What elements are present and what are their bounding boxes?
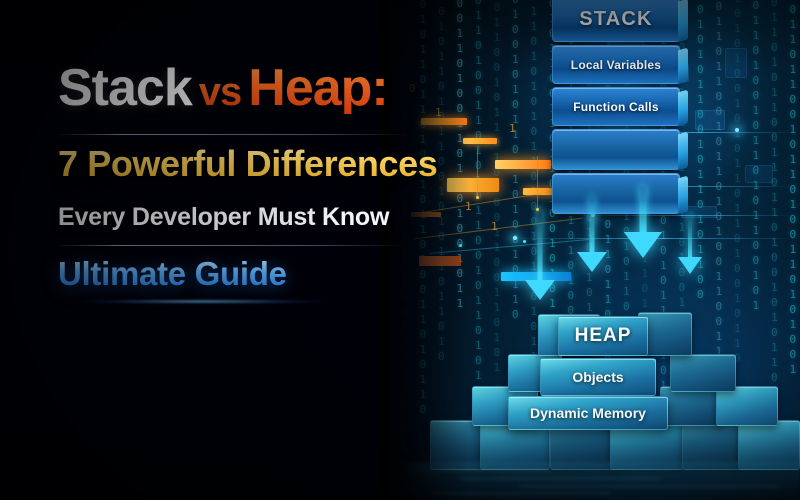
allocation-flow-arrow-left [520,208,560,300]
binary-glyph: 1 [465,200,472,213]
headline-word-vs: vs [192,72,249,112]
circuit-node [476,196,479,199]
stack-block-label: Function Calls [573,100,658,114]
allocation-flow-arrow-mid [568,196,616,272]
allocation-flow-arrow-right [616,186,670,258]
headline-primary: StackvsHeap: [58,62,388,114]
poster-canvas: 1 0 1 0 0 1 1 0 1 0 1 1 0 0 1 0 1 0 1 1 … [0,0,800,500]
reflective-floor [400,462,800,500]
circuit-node [735,128,739,132]
circuit-node [459,244,462,247]
circuit-trace [537,156,538,210]
heap-block [716,386,778,426]
stack-block-empty-1 [552,129,680,170]
glow-bar [447,178,499,192]
stack-block-stack: STACK [552,0,680,42]
heap-label-text: Dynamic Memory [530,405,646,421]
headline-word-heap: Heap: [248,62,387,114]
divider-bottom [58,245,403,246]
heap-label-text: Objects [572,369,623,385]
title-underglow [40,300,370,303]
glow-bar [495,160,551,169]
headline-secondary: 7 Powerful Differences [58,143,437,185]
divider-top [58,134,408,135]
circuit-trace [429,239,588,254]
binary-glyph: 1 [491,220,498,233]
stack-block-label: Local Variables [571,58,661,72]
stack-tower: STACK Local Variables Function Calls [552,0,680,217]
heap-label-text: HEAP [575,325,632,347]
stack-block-label: STACK [579,8,652,31]
stack-block-local-variables: Local Variables [552,45,680,84]
heap-label-objects: Objects [540,358,656,396]
allocation-flow-arrow-far-right [672,212,708,274]
heap-block [670,354,736,392]
glow-bar [463,138,497,144]
binary-rain-column: 0 1 1 0 0 1 1 0 1 0 1 0 1 0 1 1 0 1 0 0 … [753,0,761,313]
headline-badge: Ultimate Guide [58,255,287,293]
chip-square [695,110,725,130]
binary-glyph: 1 [509,122,516,135]
headline-word-stack: Stack [58,62,192,114]
chip-square [745,165,773,183]
title-block: StackvsHeap: 7 Powerful Differences Ever… [0,0,430,500]
stack-block-function-calls: Function Calls [552,87,680,126]
heap-block [660,386,722,426]
chip-square [725,48,747,78]
headline-tertiary: Every Developer Must Know [58,203,389,232]
circuit-trace [477,148,478,196]
heap-label-dynamic-memory: Dynamic Memory [508,396,668,430]
heap-pyramid: HEAP Objects Dynamic Memory [430,300,800,475]
binary-glyph: 1 [435,106,442,119]
heap-label-heap: HEAP [558,316,648,356]
